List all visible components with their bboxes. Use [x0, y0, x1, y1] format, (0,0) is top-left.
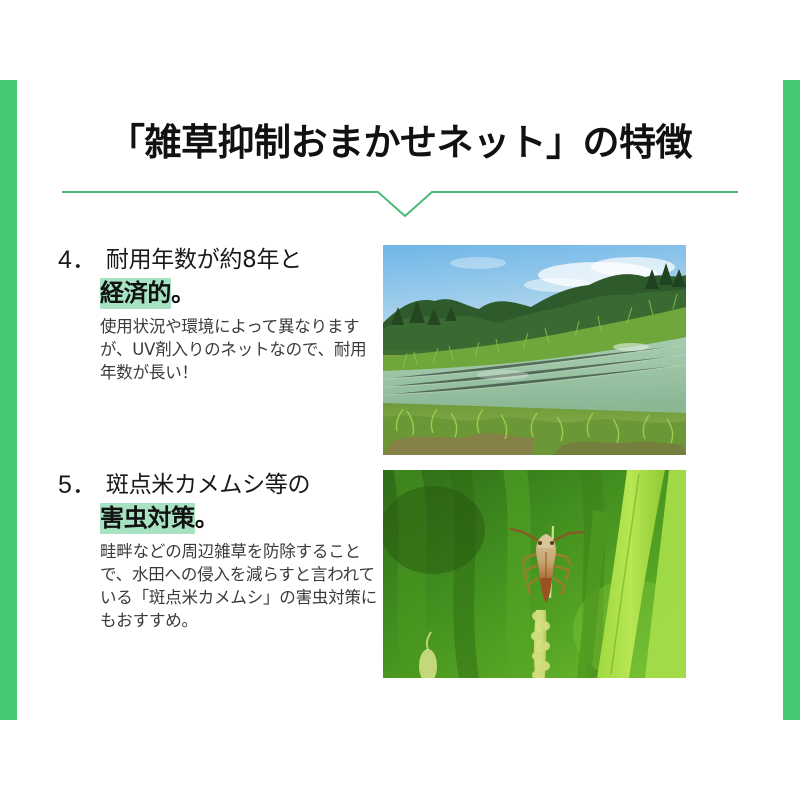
feature-4-headline-second: 経済的。	[100, 278, 376, 308]
feature-5-headline-first: 斑点米カメムシ等の	[106, 470, 310, 500]
page-title: 「雑草抑制おまかせネット」の特徴	[0, 112, 800, 166]
stink-bug-on-rice-ear-photo	[383, 470, 686, 678]
feature-4-body: 使用状況や環境によって異なりますが、UV剤入りのネットなので、耐用年数が長い！	[100, 315, 378, 384]
feature-page: 「雑草抑制おまかせネット」の特徴 4． 耐用年数が約8年と 経済的。 使用状況や…	[0, 0, 800, 800]
feature-5-headline: 5． 斑点米カメムシ等の	[58, 470, 376, 500]
feature-4-text: 4． 耐用年数が約8年と 経済的。 使用状況や環境によって異なりますが、UV剤入…	[58, 245, 376, 384]
feature-4-highlight: 経済的	[100, 278, 171, 309]
v-notch-divider-icon	[62, 182, 738, 222]
feature-4-headline-first: 耐用年数が約8年と	[106, 245, 302, 275]
right-accent-bar	[783, 80, 800, 720]
feature-4-number: 4．	[58, 245, 106, 275]
feature-5-body: 畦畔などの周辺雑草を防除することで、水田への侵入を減らすと言われている「斑点米カ…	[100, 540, 378, 632]
feature-5-text: 5． 斑点米カメムシ等の 害虫対策。 畦畔などの周辺雑草を防除することで、水田へ…	[58, 470, 376, 632]
feature-5-period: 。	[195, 504, 219, 532]
feature-4-headline: 4． 耐用年数が約8年と	[58, 245, 376, 275]
feature-5-highlight: 害虫対策	[100, 503, 195, 534]
weed-suppression-net-covering-field-photo	[383, 245, 686, 455]
feature-5-number: 5．	[58, 470, 106, 500]
left-accent-bar	[0, 80, 17, 720]
feature-4-period: 。	[171, 279, 195, 307]
feature-5-headline-second: 害虫対策。	[100, 503, 376, 533]
